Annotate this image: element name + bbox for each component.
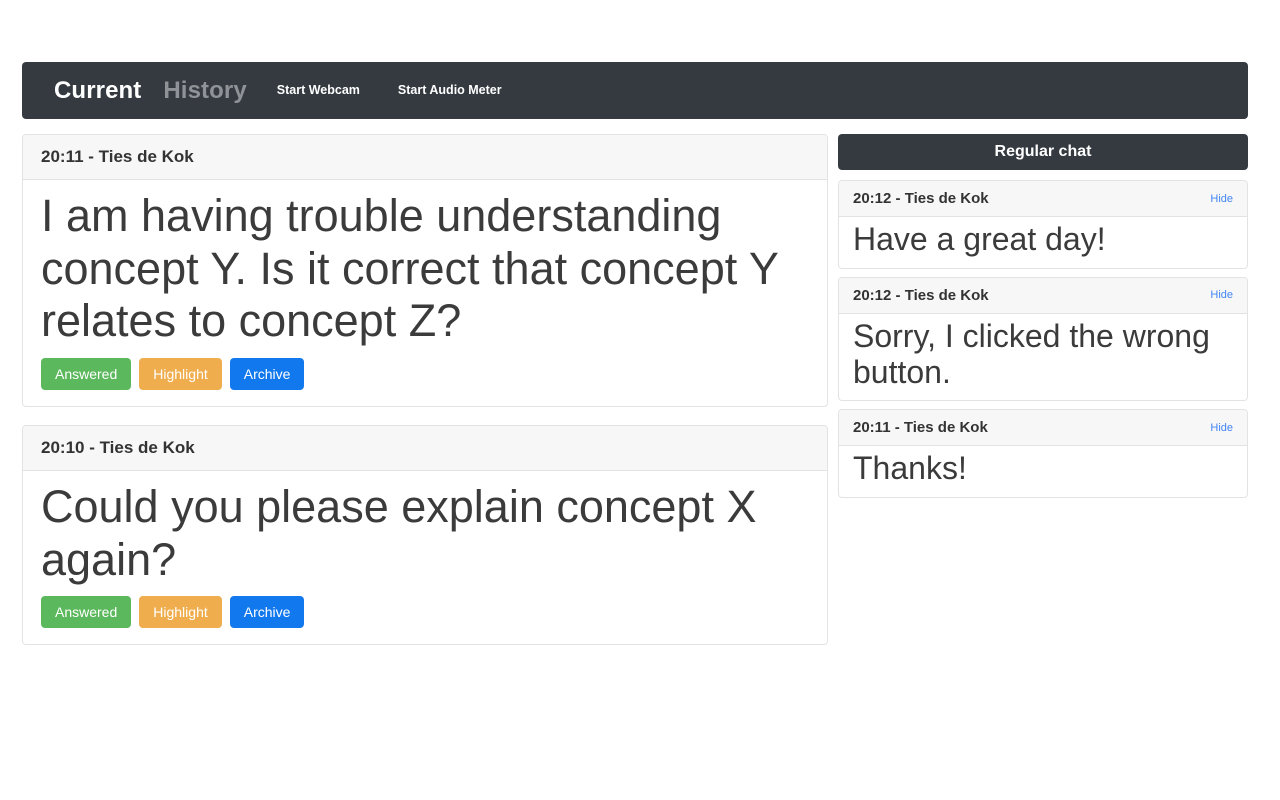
chat-message-header: 20:11 - Ties de Kok Hide bbox=[839, 410, 1247, 446]
archive-button[interactable]: Archive bbox=[230, 358, 305, 390]
question-card-header: 20:10 - Ties de Kok bbox=[23, 426, 827, 471]
answered-button[interactable]: Answered bbox=[41, 596, 131, 628]
chat-message-text: Sorry, I clicked the wrong button. bbox=[853, 319, 1233, 391]
highlight-button[interactable]: Highlight bbox=[139, 358, 221, 390]
question-action-row: Answered Highlight Archive bbox=[41, 596, 809, 628]
nav-brand-history[interactable]: History bbox=[163, 79, 246, 103]
chat-message-card: 20:12 - Ties de Kok Hide Sorry, I clicke… bbox=[838, 277, 1248, 402]
nav-link-start-webcam[interactable]: Start Webcam bbox=[277, 84, 360, 97]
archive-button[interactable]: Archive bbox=[230, 596, 305, 628]
chat-message-text: Have a great day! bbox=[853, 222, 1233, 258]
hide-link[interactable]: Hide bbox=[1210, 193, 1233, 205]
question-text: Could you please explain concept X again… bbox=[41, 481, 809, 586]
answered-button[interactable]: Answered bbox=[41, 358, 131, 390]
top-navbar: Current History Start Webcam Start Audio… bbox=[22, 62, 1248, 119]
question-card-header: 20:11 - Ties de Kok bbox=[23, 135, 827, 180]
chat-message-text: Thanks! bbox=[853, 451, 1233, 487]
questions-list: 20:11 - Ties de Kok I am having trouble … bbox=[22, 134, 828, 663]
chat-message-meta: 20:12 - Ties de Kok bbox=[853, 190, 989, 207]
app-root: Current History Start Webcam Start Audio… bbox=[0, 0, 1280, 800]
question-meta: 20:10 - Ties de Kok bbox=[41, 438, 195, 457]
highlight-button[interactable]: Highlight bbox=[139, 596, 221, 628]
chat-panel: Regular chat 20:12 - Ties de Kok Hide Ha… bbox=[838, 134, 1248, 506]
question-card-body: I am having trouble understanding concep… bbox=[23, 180, 827, 406]
question-action-row: Answered Highlight Archive bbox=[41, 358, 809, 390]
question-card: 20:10 - Ties de Kok Could you please exp… bbox=[22, 425, 828, 645]
question-meta: 20:11 - Ties de Kok bbox=[41, 147, 194, 166]
nav-link-start-audio-meter[interactable]: Start Audio Meter bbox=[398, 84, 502, 97]
chat-message-body: Have a great day! bbox=[839, 217, 1247, 268]
hide-link[interactable]: Hide bbox=[1210, 422, 1233, 434]
question-text: I am having trouble understanding concep… bbox=[41, 190, 809, 348]
nav-brand-current[interactable]: Current bbox=[54, 79, 141, 103]
hide-link[interactable]: Hide bbox=[1210, 289, 1233, 301]
question-card-body: Could you please explain concept X again… bbox=[23, 471, 827, 644]
chat-message-body: Thanks! bbox=[839, 446, 1247, 497]
chat-message-meta: 20:11 - Ties de Kok bbox=[853, 419, 988, 436]
chat-message-card: 20:11 - Ties de Kok Hide Thanks! bbox=[838, 409, 1248, 498]
chat-message-meta: 20:12 - Ties de Kok bbox=[853, 287, 989, 304]
chat-message-body: Sorry, I clicked the wrong button. bbox=[839, 314, 1247, 401]
chat-message-header: 20:12 - Ties de Kok Hide bbox=[839, 278, 1247, 314]
chat-panel-header: Regular chat bbox=[838, 134, 1248, 170]
question-card: 20:11 - Ties de Kok I am having trouble … bbox=[22, 134, 828, 407]
chat-message-card: 20:12 - Ties de Kok Hide Have a great da… bbox=[838, 180, 1248, 269]
chat-message-header: 20:12 - Ties de Kok Hide bbox=[839, 181, 1247, 217]
